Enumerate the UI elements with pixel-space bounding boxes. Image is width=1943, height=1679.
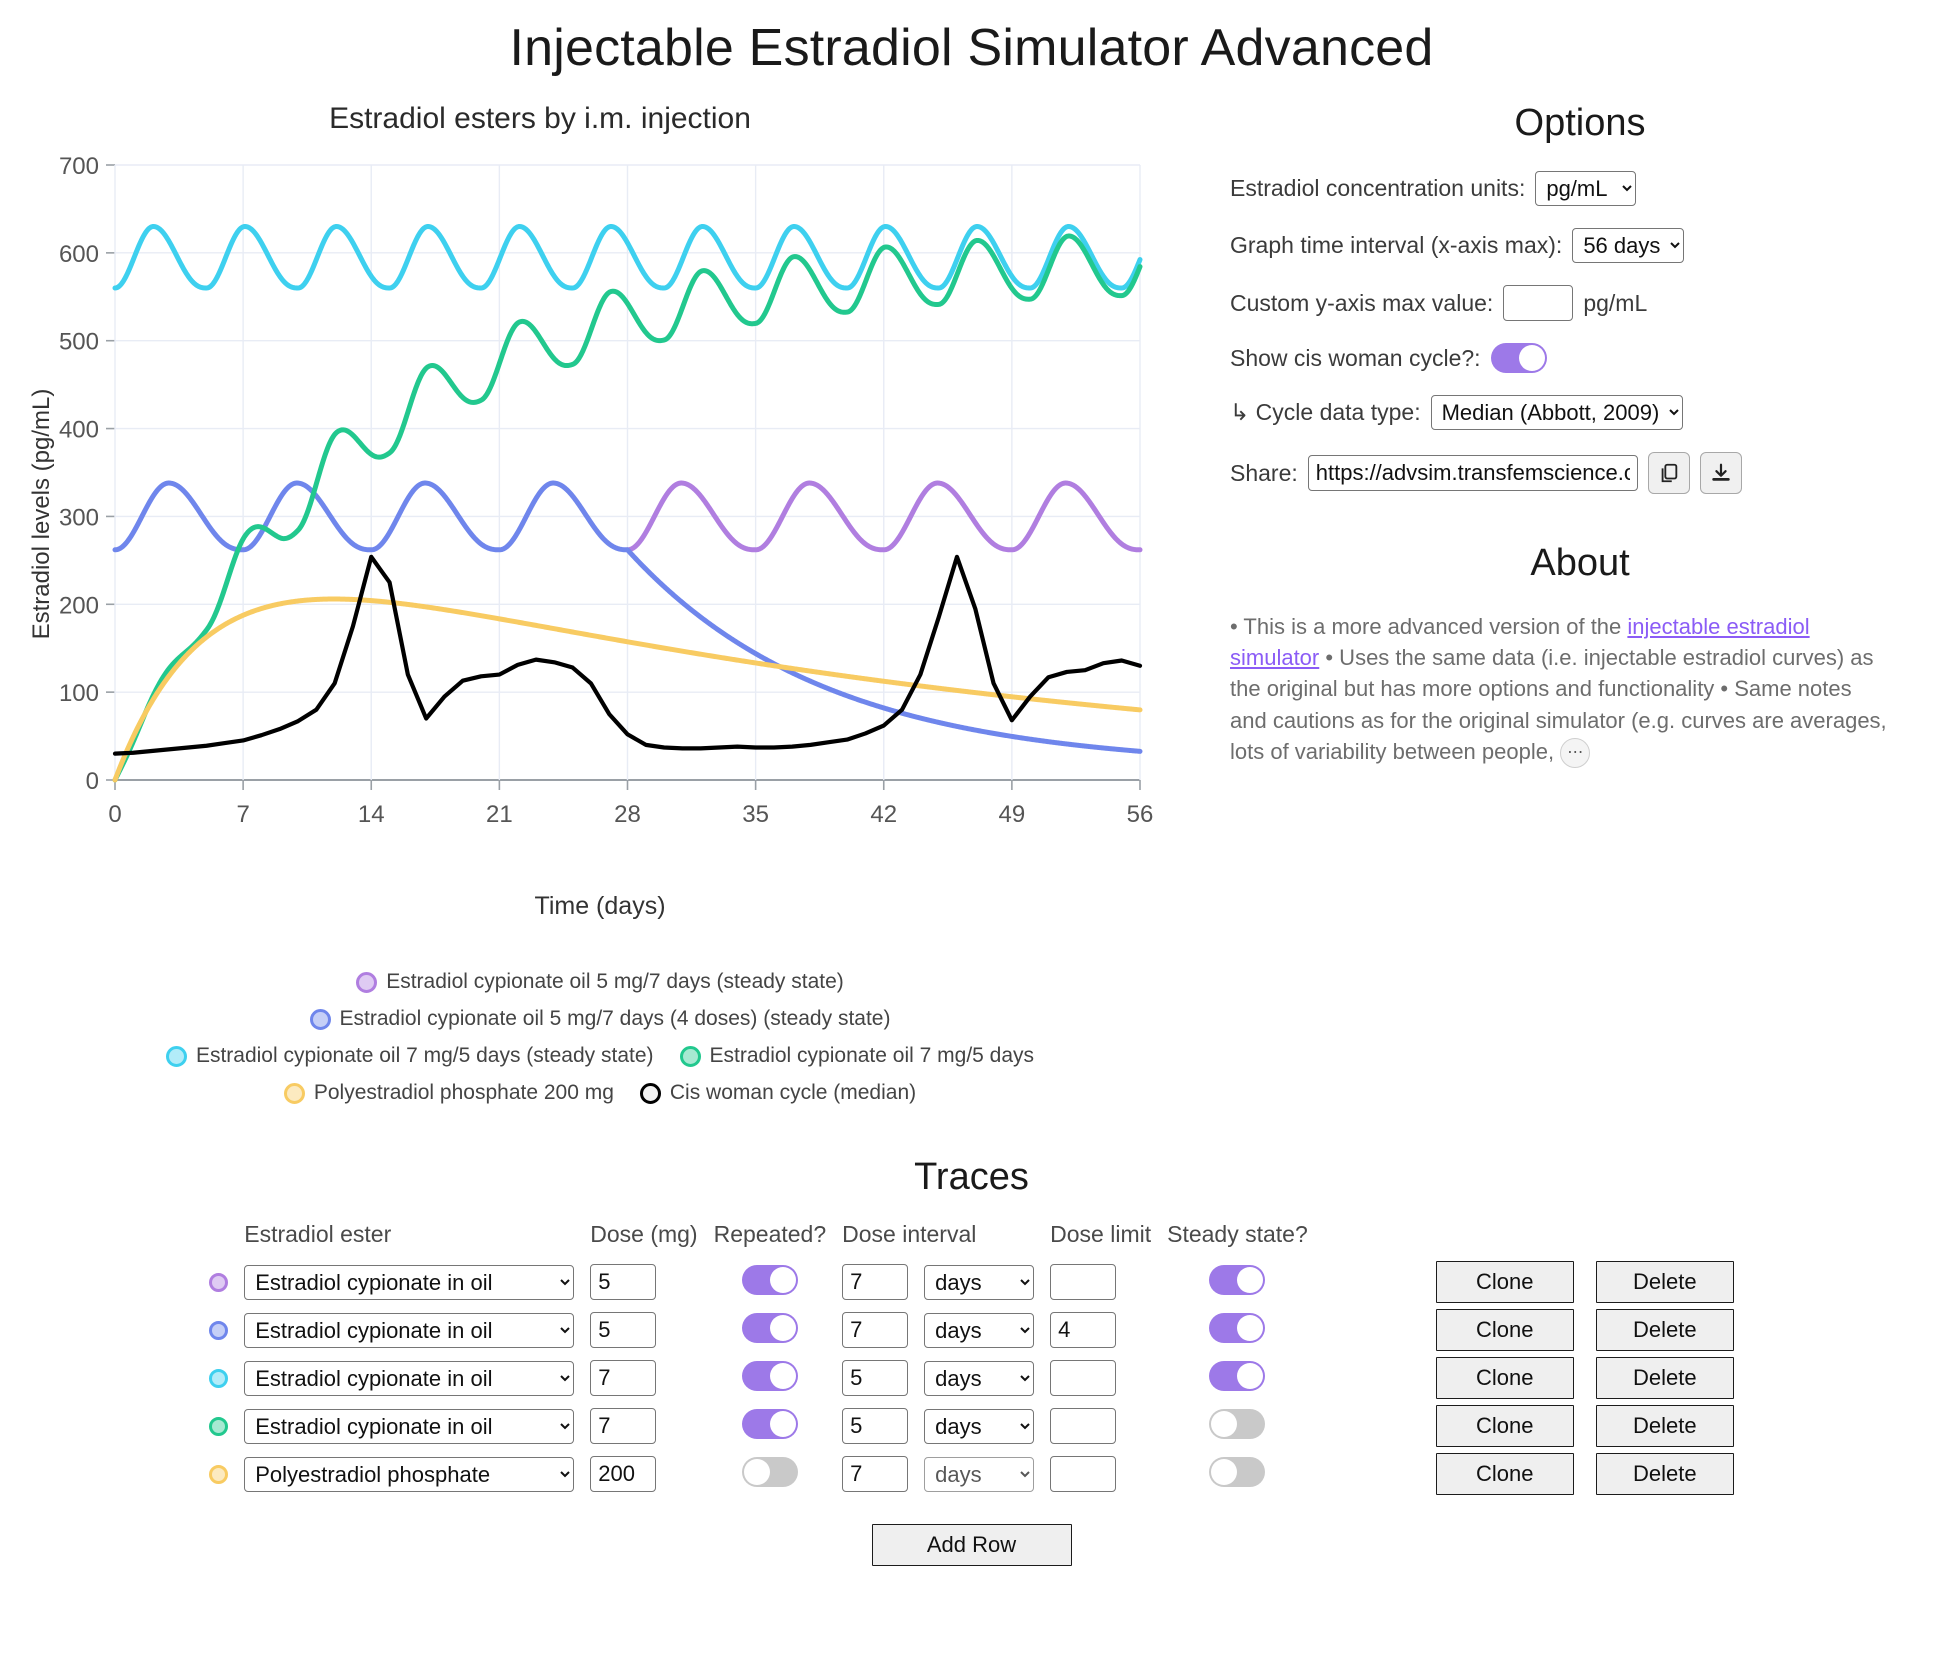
traces-heading: Traces [0, 1156, 1943, 1199]
ester-select[interactable]: Estradiol cypionate in oilPolyestradiol … [244, 1457, 574, 1492]
dose-interval-unit-select[interactable]: daysweeksmonths [924, 1265, 1034, 1300]
x-tick-label: 42 [870, 801, 897, 828]
trace-repeated-cell [706, 1258, 835, 1306]
option-ymax-label: Custom y-axis max value: [1230, 290, 1493, 317]
time-interval-select[interactable]: 7 days14 days28 days56 days90 days [1572, 228, 1684, 263]
steady-state-toggle[interactable] [1209, 1265, 1265, 1295]
y-tick-label: 400 [59, 417, 99, 444]
download-icon [1710, 462, 1732, 484]
option-units-label: Estradiol concentration units: [1230, 175, 1525, 202]
delete-button[interactable]: Delete [1596, 1357, 1734, 1399]
custom-ymax-input[interactable] [1503, 285, 1573, 321]
traces-table: Estradiol ester Dose (mg) Repeated? Dose… [201, 1221, 1742, 1498]
options-heading: Options [1230, 102, 1930, 145]
traces-header-row: Estradiol ester Dose (mg) Repeated? Dose… [201, 1221, 1742, 1258]
repeated-toggle[interactable] [742, 1457, 798, 1487]
trace-interval-cell [834, 1402, 916, 1450]
legend-label: Cis woman cycle (median) [670, 1081, 916, 1105]
trace-ester-cell: Estradiol cypionate in oilPolyestradiol … [236, 1258, 582, 1306]
col-interval: Dose interval [834, 1221, 1042, 1258]
dose-interval-input[interactable] [842, 1312, 908, 1348]
dose-input[interactable] [590, 1312, 656, 1348]
trace-interval-cell [834, 1450, 916, 1498]
trace-interval-cell [834, 1354, 916, 1402]
about-text-part1: • This is a more advanced version of the [1230, 614, 1627, 639]
trace-clone-cell: Clone [1316, 1354, 1582, 1402]
col-dose: Dose (mg) [582, 1221, 705, 1258]
trace-color-cell [201, 1402, 236, 1450]
legend-label: Polyestradiol phosphate 200 mg [314, 1081, 614, 1105]
trace-dose-cell [582, 1306, 705, 1354]
trace-interval-cell [834, 1258, 916, 1306]
option-units-row: Estradiol concentration units: pg/mLpmol… [1230, 171, 1930, 206]
legend-item[interactable]: Polyestradiol phosphate 200 mg [284, 1081, 614, 1105]
col-repeated: Repeated? [706, 1221, 835, 1258]
estradiol-line-chart: 01002003004005006007000714212835424956 [10, 140, 1190, 890]
legend-item[interactable]: Estradiol cypionate oil 7 mg/5 days [680, 1044, 1035, 1068]
dose-limit-input[interactable] [1050, 1312, 1116, 1348]
trace-steady-cell [1159, 1306, 1316, 1354]
trace-interval-unit-cell: daysweeksmonths [916, 1402, 1042, 1450]
copy-icon-button[interactable] [1648, 452, 1690, 494]
y-tick-label: 0 [86, 768, 99, 795]
trace-delete-cell: Delete [1582, 1258, 1742, 1306]
trace-color-swatch [209, 1321, 228, 1340]
trace-dose-cell [582, 1354, 705, 1402]
legend-row: Estradiol cypionate oil 5 mg/7 days (ste… [10, 970, 1190, 994]
dose-limit-input[interactable] [1050, 1264, 1116, 1300]
dose-limit-input[interactable] [1050, 1408, 1116, 1444]
dose-interval-unit-select[interactable]: daysweeksmonths [924, 1313, 1034, 1348]
trace-dose-cell [582, 1450, 705, 1498]
x-tick-label: 7 [236, 801, 249, 828]
clone-button[interactable]: Clone [1436, 1261, 1574, 1303]
about-text: • This is a more advanced version of the… [1230, 611, 1890, 768]
trace-steady-cell [1159, 1258, 1316, 1306]
top-area: Estradiol esters by i.m. injection 01002… [0, 84, 1943, 1118]
x-axis-label: Time (days) [10, 892, 1190, 921]
steady-state-toggle[interactable] [1209, 1361, 1265, 1391]
trace-color-swatch [209, 1417, 228, 1436]
delete-button[interactable]: Delete [1596, 1261, 1734, 1303]
trace-interval-unit-cell: daysweeksmonths [916, 1354, 1042, 1402]
trace-ester-cell: Estradiol cypionate in oilPolyestradiol … [236, 1354, 582, 1402]
copy-icon [1658, 462, 1680, 484]
share-label: Share: [1230, 460, 1298, 487]
col-ester: Estradiol ester [236, 1221, 582, 1258]
option-ymax-suffix: pg/mL [1583, 290, 1647, 317]
option-cycle-type-label: ↳ Cycle data type: [1230, 399, 1421, 426]
trace-delete-cell: Delete [1582, 1450, 1742, 1498]
clone-button[interactable]: Clone [1436, 1453, 1574, 1495]
trace-ester-cell: Estradiol cypionate in oilPolyestradiol … [236, 1450, 582, 1498]
legend-row: Estradiol cypionate oil 5 mg/7 days (4 d… [10, 1007, 1190, 1031]
legend-item[interactable]: Estradiol cypionate oil 5 mg/7 days (ste… [356, 970, 844, 994]
legend-item[interactable]: Cis woman cycle (median) [640, 1081, 916, 1105]
download-icon-button[interactable] [1700, 452, 1742, 494]
y-tick-label: 100 [59, 680, 99, 707]
legend-color-dot [356, 972, 377, 993]
trace-repeated-cell [706, 1402, 835, 1450]
trace-interval-unit-cell: daysweeksmonths [916, 1258, 1042, 1306]
trace-interval-unit-cell: daysweeksmonths [916, 1450, 1042, 1498]
trace-row: Estradiol cypionate in oilPolyestradiol … [201, 1402, 1742, 1450]
ester-select[interactable]: Estradiol cypionate in oilPolyestradiol … [244, 1361, 574, 1396]
add-row-button[interactable]: Add Row [872, 1524, 1072, 1566]
col-swatch [201, 1221, 236, 1258]
dose-input[interactable] [590, 1264, 656, 1300]
page-title: Injectable Estradiol Simulator Advanced [0, 18, 1943, 78]
chart-title: Estradiol esters by i.m. injection [10, 102, 1230, 136]
dose-interval-input[interactable] [842, 1408, 908, 1444]
delete-button[interactable]: Delete [1596, 1405, 1734, 1447]
option-interval-row: Graph time interval (x-axis max): 7 days… [1230, 228, 1930, 263]
traces-body: Estradiol cypionate in oilPolyestradiol … [201, 1258, 1742, 1498]
clone-button[interactable]: Clone [1436, 1405, 1574, 1447]
repeated-toggle[interactable] [742, 1313, 798, 1343]
trace-color-cell [201, 1354, 236, 1402]
y-tick-label: 200 [59, 592, 99, 619]
trace-dose-cell [582, 1402, 705, 1450]
chart-legend: Estradiol cypionate oil 5 mg/7 days (ste… [10, 970, 1190, 1105]
legend-color-dot [680, 1046, 701, 1067]
dose-limit-input[interactable] [1050, 1360, 1116, 1396]
trace-color-cell [201, 1258, 236, 1306]
about-expand-button[interactable]: ⋯ [1560, 738, 1590, 768]
repeated-toggle[interactable] [742, 1265, 798, 1295]
col-steady: Steady state? [1159, 1221, 1316, 1258]
units-select[interactable]: pg/mLpmol/L [1535, 171, 1636, 206]
dose-interval-unit-select[interactable]: daysweeksmonths [924, 1409, 1034, 1444]
legend-label: Estradiol cypionate oil 5 mg/7 days (ste… [386, 970, 844, 994]
trace-ester-cell: Estradiol cypionate in oilPolyestradiol … [236, 1402, 582, 1450]
clone-button[interactable]: Clone [1436, 1309, 1574, 1351]
trace-delete-cell: Delete [1582, 1306, 1742, 1354]
x-tick-label: 56 [1127, 801, 1154, 828]
trace-limit-cell [1042, 1306, 1159, 1354]
trace-color-cell [201, 1450, 236, 1498]
dose-limit-input[interactable] [1050, 1456, 1116, 1492]
legend-color-dot [640, 1083, 661, 1104]
steady-state-toggle[interactable] [1209, 1457, 1265, 1487]
option-ymax-row: Custom y-axis max value: pg/mL [1230, 285, 1930, 321]
trace-row: Estradiol cypionate in oilPolyestradiol … [201, 1354, 1742, 1402]
about-text-part2: • Uses the same data (i.e. injectable es… [1230, 645, 1887, 764]
trace-color-swatch [209, 1369, 228, 1388]
legend-color-dot [310, 1009, 331, 1030]
legend-label: Estradiol cypionate oil 7 mg/5 days [710, 1044, 1035, 1068]
legend-label: Estradiol cypionate oil 7 mg/5 days (ste… [196, 1044, 654, 1068]
trace-clone-cell: Clone [1316, 1258, 1582, 1306]
trace-limit-cell [1042, 1354, 1159, 1402]
x-tick-label: 0 [108, 801, 121, 828]
chart-column: Estradiol esters by i.m. injection 01002… [0, 84, 1230, 1118]
trace-color-swatch [209, 1465, 228, 1484]
trace-limit-cell [1042, 1258, 1159, 1306]
trace-clone-cell: Clone [1316, 1450, 1582, 1498]
dose-input[interactable] [590, 1456, 656, 1492]
y-tick-label: 700 [59, 153, 99, 180]
trace-delete-cell: Delete [1582, 1402, 1742, 1450]
legend-color-dot [284, 1083, 305, 1104]
cycle-data-type-select[interactable]: Median (Abbott, 2009)Mean (Stricker, 200… [1431, 395, 1683, 430]
about-heading: About [1230, 542, 1930, 585]
steady-state-toggle[interactable] [1209, 1313, 1265, 1343]
trace-steady-cell [1159, 1450, 1316, 1498]
option-cis-cycle-label: Show cis woman cycle?: [1230, 345, 1481, 372]
y-tick-label: 600 [59, 241, 99, 268]
trace-color-swatch [209, 1273, 228, 1292]
ester-select[interactable]: Estradiol cypionate in oilPolyestradiol … [244, 1313, 574, 1348]
repeated-toggle[interactable] [742, 1409, 798, 1439]
trace-repeated-cell [706, 1306, 835, 1354]
trace-row: Estradiol cypionate in oilPolyestradiol … [201, 1450, 1742, 1498]
ester-select[interactable]: Estradiol cypionate in oilPolyestradiol … [244, 1265, 574, 1300]
x-tick-label: 35 [742, 801, 769, 828]
trace-interval-unit-cell: daysweeksmonths [916, 1306, 1042, 1354]
trace-limit-cell [1042, 1450, 1159, 1498]
legend-color-dot [166, 1046, 187, 1067]
repeated-toggle[interactable] [742, 1361, 798, 1391]
clone-button[interactable]: Clone [1436, 1357, 1574, 1399]
ester-select[interactable]: Estradiol cypionate in oilPolyestradiol … [244, 1409, 574, 1444]
y-axis-label: Estradiol levels (pg/mL) [28, 234, 56, 794]
legend-item[interactable]: Estradiol cypionate oil 5 mg/7 days (4 d… [310, 1007, 891, 1031]
legend-label: Estradiol cypionate oil 5 mg/7 days (4 d… [340, 1007, 891, 1031]
y-tick-label: 500 [59, 329, 99, 356]
trace-row: Estradiol cypionate in oilPolyestradiol … [201, 1258, 1742, 1306]
dose-interval-unit-select[interactable]: daysweeksmonths [924, 1361, 1034, 1396]
trace-ester-cell: Estradiol cypionate in oilPolyestradiol … [236, 1306, 582, 1354]
share-url-input[interactable] [1308, 455, 1638, 491]
option-cis-cycle-row: Show cis woman cycle?: [1230, 343, 1930, 373]
options-column: Options Estradiol concentration units: p… [1230, 84, 1930, 768]
option-interval-label: Graph time interval (x-axis max): [1230, 232, 1562, 259]
chart-area: 01002003004005006007000714212835424956 E… [10, 140, 1220, 940]
trace-clone-cell: Clone [1316, 1306, 1582, 1354]
steady-state-toggle[interactable] [1209, 1409, 1265, 1439]
trace-color-cell [201, 1306, 236, 1354]
legend-item[interactable]: Estradiol cypionate oil 7 mg/5 days (ste… [166, 1044, 654, 1068]
option-cycle-type-row: ↳ Cycle data type: Median (Abbott, 2009)… [1230, 395, 1930, 430]
col-actions [1316, 1221, 1582, 1258]
delete-button[interactable]: Delete [1596, 1453, 1734, 1495]
trace-limit-cell [1042, 1402, 1159, 1450]
legend-row: Estradiol cypionate oil 7 mg/5 days (ste… [10, 1044, 1190, 1068]
trace-dose-cell [582, 1258, 705, 1306]
trace-delete-cell: Delete [1582, 1354, 1742, 1402]
col-limit: Dose limit [1042, 1221, 1159, 1258]
trace-steady-cell [1159, 1402, 1316, 1450]
trace-repeated-cell [706, 1450, 835, 1498]
dose-input[interactable] [590, 1360, 656, 1396]
trace-row: Estradiol cypionate in oilPolyestradiol … [201, 1306, 1742, 1354]
delete-button[interactable]: Delete [1596, 1309, 1734, 1351]
app-root: Injectable Estradiol Simulator Advanced … [0, 18, 1943, 1679]
x-tick-label: 21 [486, 801, 513, 828]
dose-interval-input[interactable] [842, 1360, 908, 1396]
dose-interval-input[interactable] [842, 1264, 908, 1300]
x-tick-label: 28 [614, 801, 641, 828]
col-actions-2 [1582, 1221, 1742, 1258]
x-tick-label: 49 [999, 801, 1026, 828]
y-tick-label: 300 [59, 504, 99, 531]
x-tick-label: 14 [358, 801, 385, 828]
trace-interval-cell [834, 1306, 916, 1354]
dose-interval-input[interactable] [842, 1456, 908, 1492]
show-cis-cycle-toggle[interactable] [1491, 343, 1547, 373]
legend-row: Polyestradiol phosphate 200 mgCis woman … [10, 1081, 1190, 1105]
dose-interval-unit-select[interactable]: daysweeksmonths [924, 1457, 1034, 1492]
option-share-row: Share: [1230, 452, 1930, 494]
dose-input[interactable] [590, 1408, 656, 1444]
trace-steady-cell [1159, 1354, 1316, 1402]
trace-clone-cell: Clone [1316, 1402, 1582, 1450]
trace-repeated-cell [706, 1354, 835, 1402]
